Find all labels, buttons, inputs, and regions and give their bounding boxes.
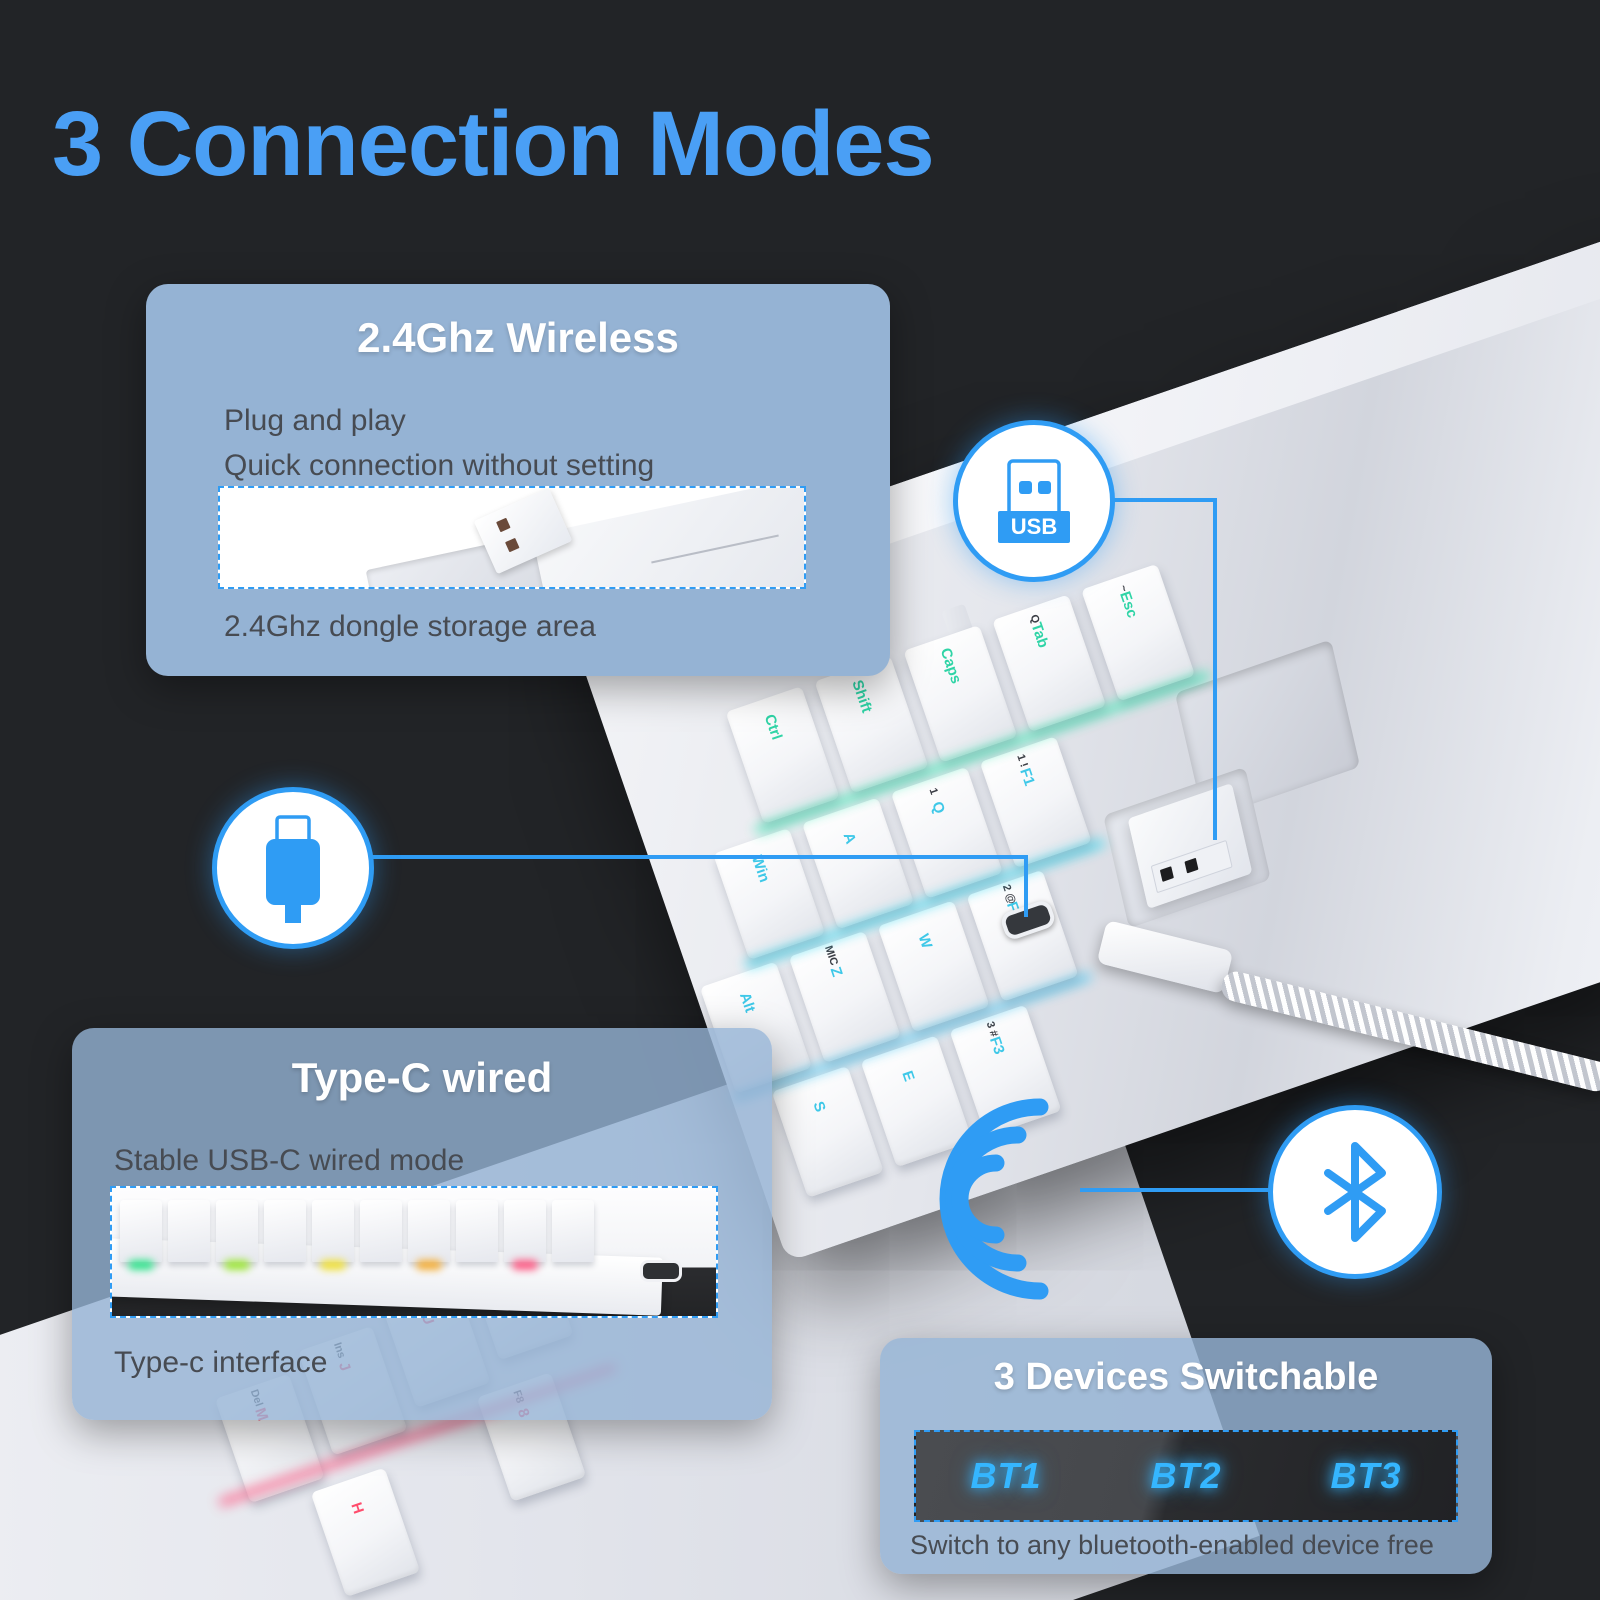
side-keycap	[552, 1200, 594, 1262]
side-rgb-glow	[320, 1260, 346, 1270]
side-keycap	[120, 1200, 162, 1262]
panel-bluetooth-devices: 3 Devices Switchable BT1 BT2 BT3 Switch …	[880, 1338, 1492, 1574]
key-legend: S	[799, 1066, 839, 1147]
side-keycap	[312, 1200, 354, 1262]
panel-line-2: Quick connection without setting	[224, 449, 654, 483]
key-legend: Caps	[931, 626, 971, 707]
panel-type-c-wired: Type-C wired Stable USB-C wired mode	[72, 1028, 772, 1420]
leader-line-usb-vertical	[1213, 498, 1217, 840]
side-keycap	[264, 1200, 306, 1262]
keyboard-side-illustration	[112, 1188, 716, 1316]
key-legend: A	[829, 798, 869, 879]
panel-line-1: Plug and play	[224, 404, 406, 438]
key-legend: F3	[977, 1005, 1017, 1086]
bt-device-1[interactable]: BT1	[970, 1455, 1041, 1497]
key-legend: Ctrl	[753, 687, 793, 768]
wireless-signal-waves	[930, 1085, 1160, 1315]
bt-device-3[interactable]: BT3	[1330, 1455, 1401, 1497]
side-keycap	[360, 1200, 402, 1262]
side-rgb-glow	[512, 1260, 538, 1270]
panel-title: 2.4Ghz Wireless	[146, 314, 890, 362]
badge-bluetooth[interactable]	[1268, 1105, 1442, 1279]
panel-line-1: Stable USB-C wired mode	[114, 1144, 464, 1178]
key-legend: F1	[1007, 737, 1047, 818]
dongle-contact-2	[505, 538, 520, 553]
side-keycap	[408, 1200, 450, 1262]
usb-c-port-closeup	[640, 1260, 682, 1282]
key-legend: Esc	[1108, 564, 1148, 645]
key-legend: Tab	[1020, 595, 1060, 676]
key-legend: W	[905, 901, 945, 982]
side-keycap	[456, 1200, 498, 1262]
usb-c-plug-icon	[250, 813, 336, 923]
key-legend: Win	[740, 829, 780, 910]
bluetooth-device-strip: BT1 BT2 BT3	[914, 1430, 1458, 1522]
inset-usb-c-port-photo	[110, 1186, 718, 1318]
bluetooth-icon	[1312, 1140, 1398, 1244]
panel-title: 3 Devices Switchable	[880, 1356, 1492, 1399]
panel-24ghz-wireless: 2.4Ghz Wireless Plug and play Quick conn…	[146, 284, 890, 676]
side-rgb-glow	[416, 1260, 442, 1270]
side-keycap	[504, 1200, 546, 1262]
usb-icon: USB	[988, 453, 1080, 549]
key-legend: H	[337, 1469, 377, 1548]
side-rgb-glow	[128, 1260, 154, 1270]
key-legend: Q	[918, 767, 958, 848]
panel-caption: Switch to any bluetooth-enabled device f…	[910, 1530, 1434, 1561]
infographic-stage: Ctrl Shift Caps Q Tab ~ Esc Win A	[0, 0, 1600, 1600]
dongle-contact-1	[496, 518, 511, 533]
usb-badge-label: USB	[1011, 514, 1057, 539]
panel-caption: 2.4Ghz dongle storage area	[224, 610, 596, 644]
badge-usb[interactable]: USB	[953, 420, 1115, 582]
side-rgb-glow	[224, 1260, 250, 1270]
panel-caption: Type-c interface	[114, 1346, 327, 1380]
key-s: S	[772, 1066, 884, 1198]
inset-dongle-storage-photo	[218, 486, 806, 589]
key-legend: Z	[816, 932, 856, 1013]
side-keycap	[216, 1200, 258, 1262]
page-title: 3 Connection Modes	[52, 92, 934, 197]
bt-device-2[interactable]: BT2	[1150, 1455, 1221, 1497]
key-legend: E	[888, 1036, 928, 1117]
dongle-storage-illustration	[220, 488, 804, 587]
side-keycap	[168, 1200, 210, 1262]
panel-title: Type-C wired	[72, 1054, 772, 1102]
leader-line-typec-vertical	[1024, 855, 1028, 917]
leader-line-typec-horizontal	[368, 855, 1028, 859]
badge-usb-c[interactable]	[212, 787, 374, 949]
